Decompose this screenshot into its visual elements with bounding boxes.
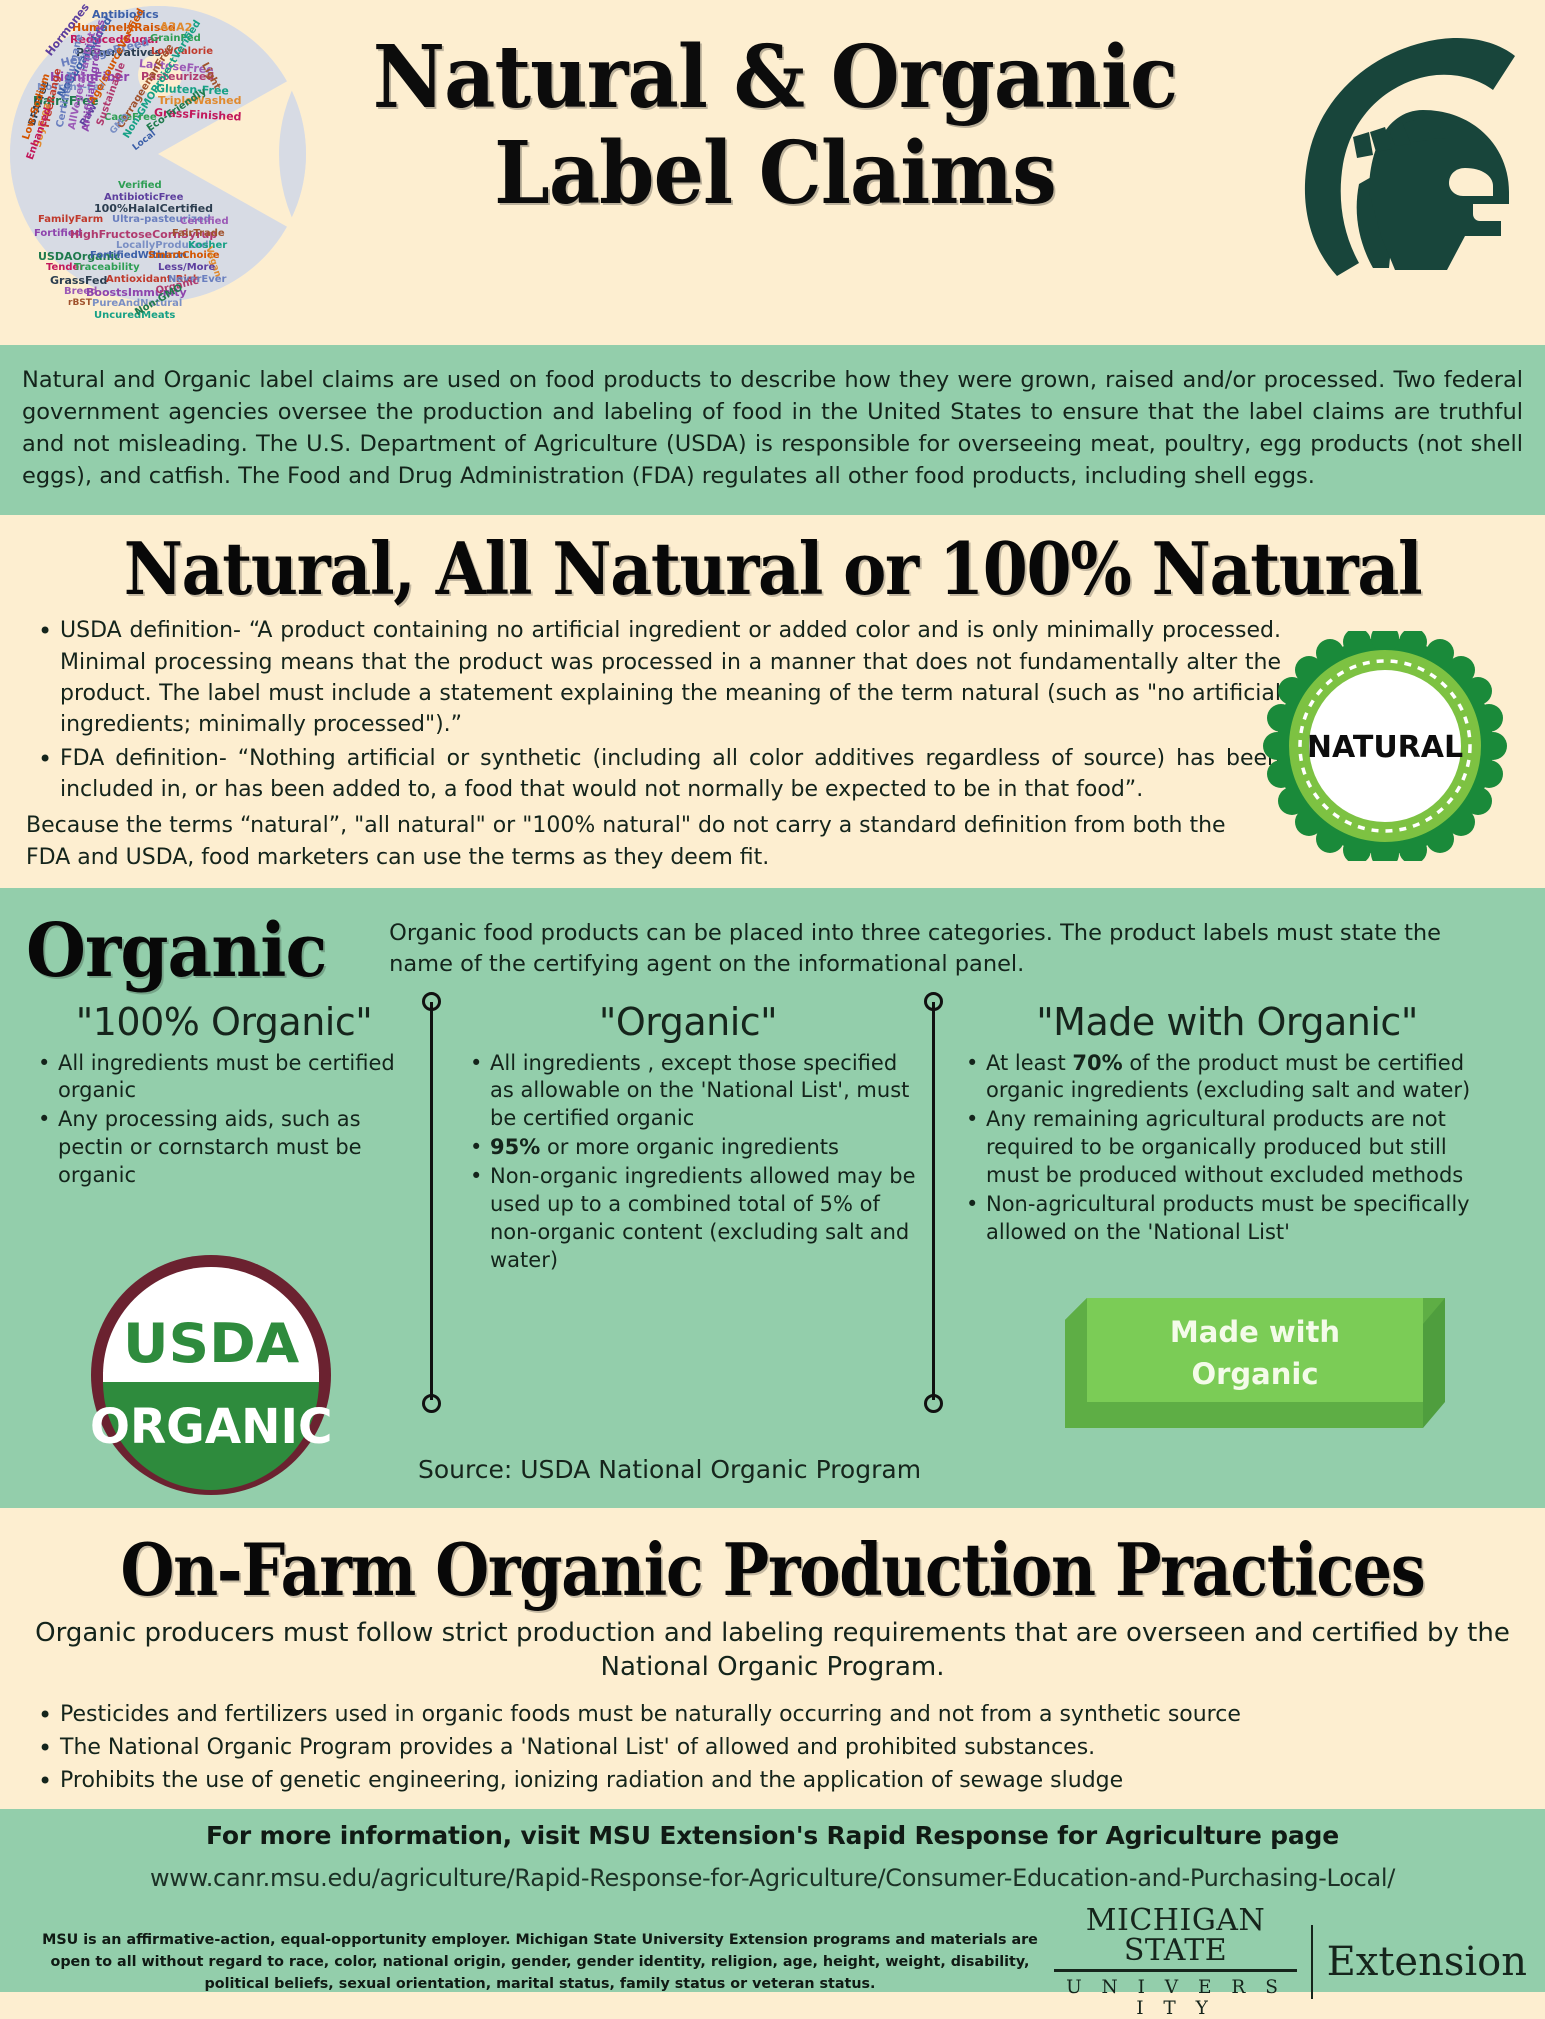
- list-item: Pesticides and fertilizers used in organ…: [26, 1699, 1519, 1730]
- list-item: FDA definition- “Nothing artificial or s…: [26, 743, 1281, 806]
- onfarm-section: On-Farm Organic Production Practices Org…: [0, 1508, 1545, 1809]
- footer: For more information, visit MSU Extensio…: [0, 1809, 1545, 1992]
- natural-section-heading: Natural, All Natural or 100% Natural: [77, 521, 1468, 615]
- bullet-bold: 70%: [1072, 1051, 1122, 1075]
- list-item: Prohibits the use of genetic engineering…: [26, 1765, 1519, 1796]
- column-bullet-list: All ingredients must be certified organi…: [28, 1050, 420, 1191]
- list-item: All ingredients must be certified organi…: [28, 1050, 420, 1106]
- usda-organic-seal: USDA ORGANIC: [78, 1250, 344, 1500]
- onfarm-section-heading: On-Farm Organic Production Practices: [108, 1518, 1437, 1616]
- list-item: USDA definition- “A product containing n…: [26, 615, 1281, 741]
- organic-columns: "100% Organic" All ingredients must be c…: [0, 988, 1545, 1276]
- organic-column-100-percent: "100% Organic" All ingredients must be c…: [18, 1000, 430, 1276]
- wordcloud-word: FamilyFarm: [38, 214, 103, 225]
- made-with-organic-line2: Organic: [1191, 1357, 1318, 1391]
- bullet-post: or more organic ingredients: [540, 1135, 839, 1159]
- natural-seal-label: NATURAL: [1307, 730, 1463, 765]
- list-item: Non-organic ingredients allowed may be u…: [460, 1163, 916, 1275]
- wordcloud-word: rBST: [68, 298, 92, 308]
- made-with-organic-line1: Made with: [1170, 1315, 1340, 1349]
- intro-band: Natural and Organic label claims are use…: [0, 345, 1545, 515]
- intro-paragraph: Natural and Organic label claims are use…: [22, 365, 1523, 493]
- infographic-page: AntibioticsHumanelyRaisedA2A2ReducedSuga…: [0, 0, 1545, 2000]
- bullet-post: Non-organic ingredients allowed may be u…: [490, 1164, 916, 1272]
- natural-bullet-list: USDA definition- “A product containing n…: [26, 615, 1281, 806]
- bullet-post: Non-agricultural products must be specif…: [986, 1192, 1470, 1244]
- onfarm-subtitle: Organic producers must follow strict pro…: [0, 1616, 1545, 1685]
- bullet-post: Any processing aids, such as pectin or c…: [58, 1107, 362, 1187]
- organic-column-made-with: "Made with Organic" At least 70% of the …: [930, 1000, 1510, 1276]
- bullet-pre: At least: [986, 1051, 1072, 1075]
- onfarm-bullet-list: Pesticides and fertilizers used in organ…: [0, 1685, 1545, 1797]
- organic-section-intro: Organic food products can be placed into…: [349, 900, 1469, 981]
- bullet-bold: 95%: [490, 1135, 540, 1159]
- wordcloud-word: FairTrade: [172, 228, 225, 239]
- wordcloud-word: Less/More: [158, 262, 215, 273]
- page-title: Natural & Organic Label Claims: [280, 30, 1270, 223]
- column-bullet-list: At least 70% of the product must be cert…: [956, 1050, 1498, 1247]
- column-bullet-list: All ingredients , except those specified…: [460, 1050, 916, 1275]
- msu-spartan-helmet-icon: [1277, 18, 1527, 286]
- food-label-claims-word-cloud: AntibioticsHumanelyRaisedA2A2ReducedSuga…: [8, 2, 308, 312]
- list-item: 95% or more organic ingredients: [460, 1134, 916, 1162]
- wordcloud-word: Verified: [118, 180, 162, 191]
- column-title: "Made with Organic": [956, 1000, 1498, 1044]
- list-item: The National Organic Program provides a …: [26, 1732, 1519, 1763]
- column-title: "Organic": [460, 1000, 916, 1044]
- logo-divider: [1311, 1925, 1313, 1999]
- footer-url-link[interactable]: www.canr.msu.edu/agriculture/Rapid-Respo…: [18, 1864, 1527, 1892]
- organic-section-heading: Organic: [26, 900, 326, 988]
- organic-column-organic: "Organic" All ingredients , except those…: [430, 1000, 930, 1276]
- list-item: All ingredients , except those specified…: [460, 1050, 916, 1134]
- list-item: Any remaining agricultural products are …: [956, 1106, 1498, 1190]
- column-title: "100% Organic": [28, 1000, 420, 1044]
- title-line-1: Natural & Organic: [320, 30, 1231, 126]
- made-with-organic-badge: Made with Organic: [1065, 1298, 1445, 1428]
- list-item: Any processing aids, such as pectin or c…: [28, 1106, 420, 1190]
- list-item: At least 70% of the product must be cert…: [956, 1050, 1498, 1106]
- natural-section: Natural, All Natural or 100% Natural USD…: [0, 515, 1545, 888]
- usda-seal-bottom-text: ORGANIC: [90, 1399, 333, 1455]
- natural-badge-seal: NATURAL: [1263, 631, 1507, 861]
- list-item: Non-agricultural products must be specif…: [956, 1191, 1498, 1247]
- bullet-post: All ingredients , except those specified…: [490, 1051, 909, 1131]
- footer-legal-text: MSU is an affirmative-action, equal-oppo…: [18, 1929, 1048, 1995]
- wordcloud-word: Traceability: [74, 262, 140, 273]
- usda-seal-top-text: USDA: [123, 1312, 299, 1375]
- msu-logo-extension: Extension: [1327, 1939, 1527, 1985]
- natural-footnote: Because the terms “natural”, "all natura…: [26, 810, 1236, 874]
- footer-headline: For more information, visit MSU Extensio…: [18, 1821, 1527, 1850]
- bullet-post: Any remaining agricultural products are …: [986, 1107, 1463, 1187]
- title-line-2: Label Claims: [320, 126, 1231, 222]
- msu-extension-logo: MICHIGAN STATE U N I V E R S I T Y Exten…: [1048, 1906, 1527, 2019]
- header: AntibioticsHumanelyRaisedA2A2ReducedSuga…: [0, 0, 1545, 345]
- organic-source-note: Source: USDA National Organic Program: [418, 1455, 921, 1484]
- wordcloud-word: Certified: [180, 216, 229, 227]
- msu-logo-line2: U N I V E R S I T Y: [1054, 1977, 1297, 2019]
- msu-logo-line1: MICHIGAN STATE: [1054, 1906, 1297, 1972]
- bullet-post: All ingredients must be certified organi…: [58, 1051, 395, 1103]
